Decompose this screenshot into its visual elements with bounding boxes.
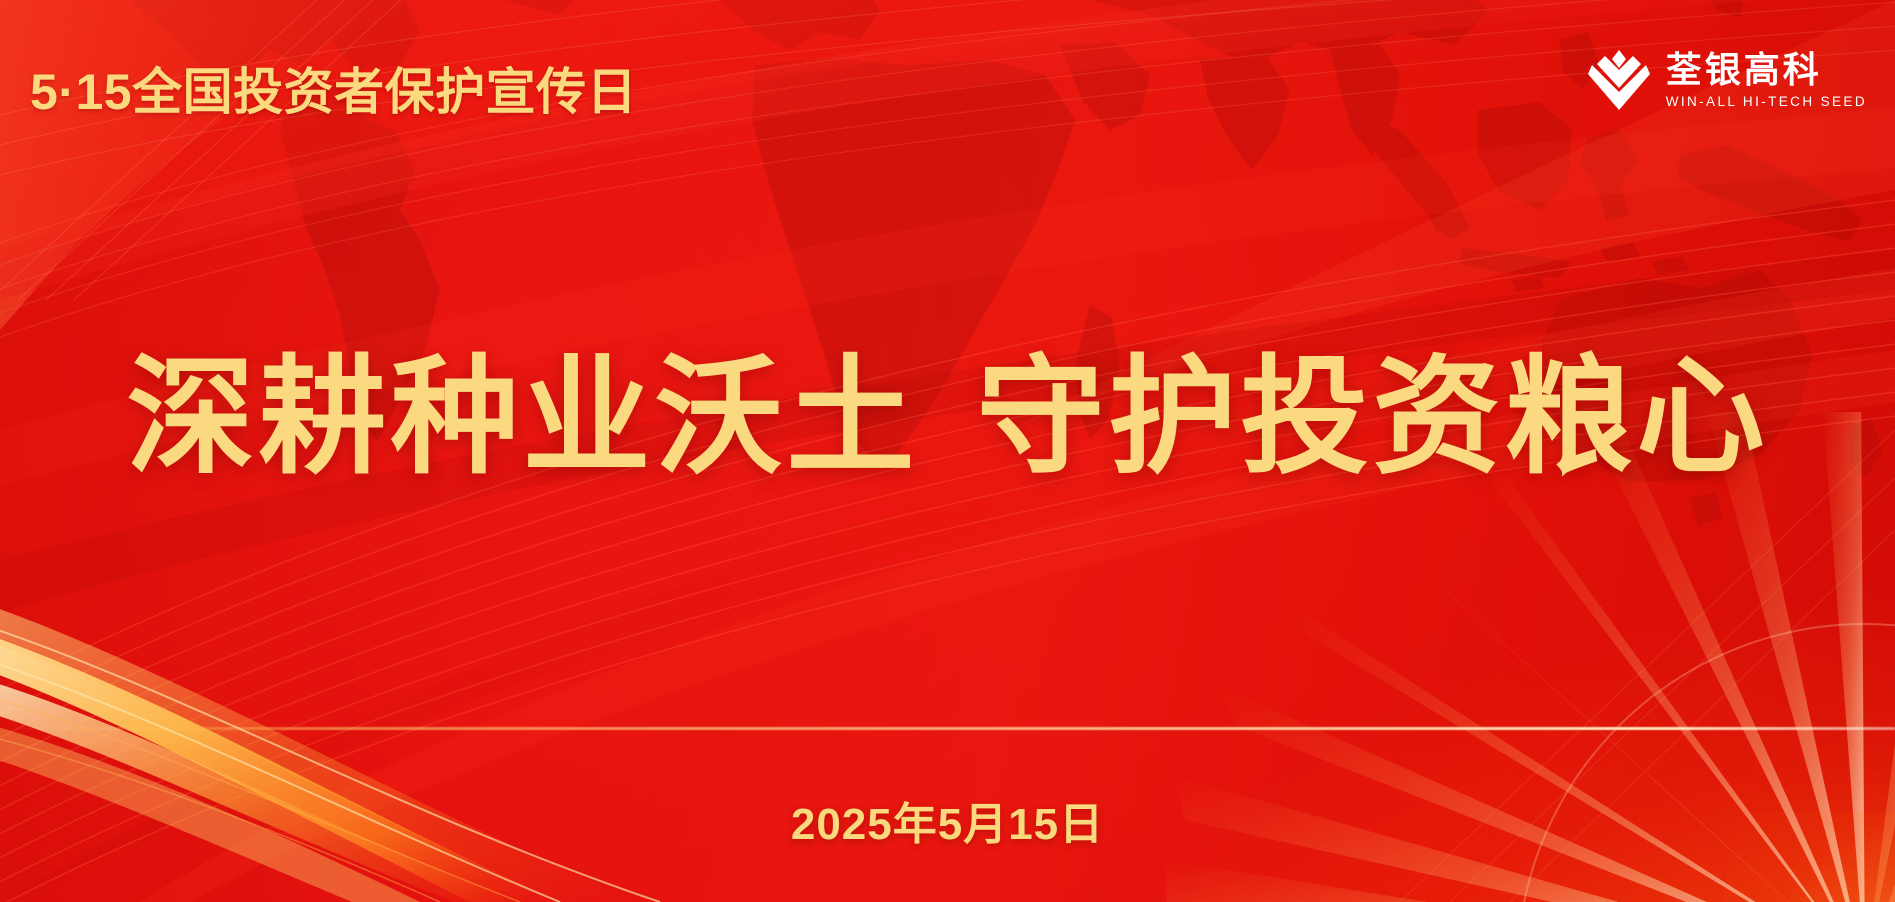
logo-name-cn: 荃银高科 xyxy=(1666,51,1867,89)
main-title: 深耕种业沃土守护投资粮心 xyxy=(0,348,1895,489)
logo-name-en: WIN-ALL HI-TECH SEED xyxy=(1666,94,1867,109)
event-date: 2025年5月15日 xyxy=(0,788,1895,852)
investor-protection-day-banner: 5·15全国投资者保护宣传日 荃银高科 WIN-ALL HI-TECH SEED… xyxy=(0,0,1895,902)
win-all-chevron-logo-icon xyxy=(1588,48,1650,112)
company-logo[interactable]: 荃银高科 WIN-ALL HI-TECH SEED xyxy=(1588,48,1867,112)
main-title-part-1: 深耕种业沃土 xyxy=(126,346,918,489)
logo-text-block: 荃银高科 WIN-ALL HI-TECH SEED xyxy=(1666,51,1867,109)
main-title-part-2: 守护投资粮心 xyxy=(977,346,1769,489)
header-title: 5·15全国投资者保护宣传日 xyxy=(30,52,637,124)
